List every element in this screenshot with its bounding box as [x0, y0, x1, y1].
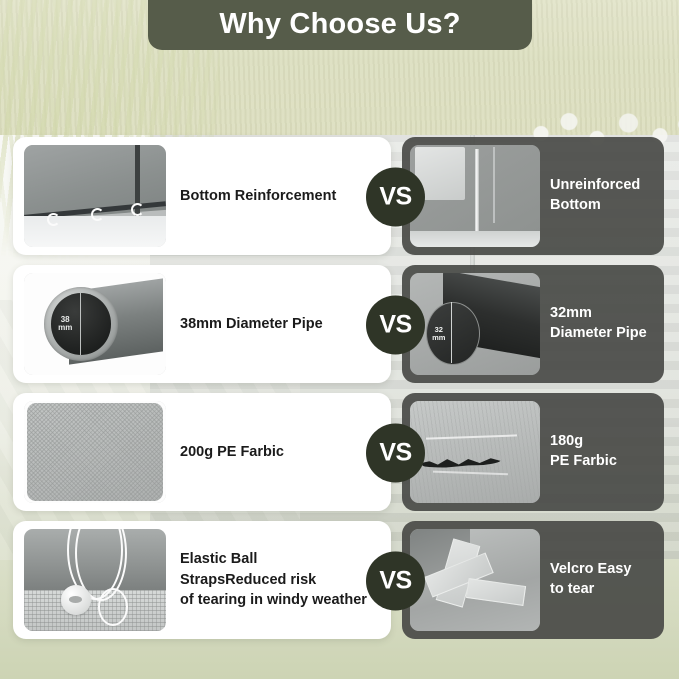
unreinforced-bottom-illustration	[410, 145, 540, 247]
con-label: 180g PE Farbic	[550, 432, 617, 471]
pro-card-elastic-ball-straps: Elastic Ball StrapsReduced risk of teari…	[13, 521, 391, 639]
comparison-row: Elastic Ball StrapsReduced risk of teari…	[0, 521, 679, 641]
comparison-row: Bottom Reinforcement VS Unreinforced	[0, 137, 679, 257]
200g-fabric-illustration	[24, 401, 166, 503]
infographic-page: Why Choose Us? Bottom Reinforcement	[0, 0, 679, 679]
elastic-ball-strap-illustration	[24, 529, 166, 631]
pro-label-line: StrapsReduced risk	[180, 570, 367, 591]
con-label-line: Velcro Easy	[550, 560, 631, 580]
con-thumbnail-180g-fabric	[410, 401, 540, 503]
pro-thumbnail-elastic-ball-straps	[24, 529, 166, 631]
con-label-line: 32mm	[550, 304, 647, 324]
pipe-callout-line: mm	[432, 334, 445, 342]
vs-label: VS	[379, 569, 411, 594]
pro-card-bottom-reinforcement: Bottom Reinforcement	[13, 137, 391, 255]
pipe-callout-line: mm	[58, 324, 72, 332]
vs-badge: VS	[366, 296, 425, 355]
vs-badge: VS	[366, 168, 425, 227]
con-label: Unreinforced Bottom	[550, 176, 640, 215]
pro-label: Bottom Reinforcement	[180, 186, 336, 207]
con-thumbnail-32mm-pipe: 32 mm	[410, 273, 540, 375]
con-label: 32mm Diameter Pipe	[550, 304, 647, 343]
pro-label: Elastic Ball StrapsReduced risk of teari…	[180, 549, 367, 611]
pro-thumbnail-38mm-pipe: 38 mm	[24, 273, 166, 375]
38mm-pipe-illustration: 38 mm	[24, 273, 166, 375]
pro-thumbnail-bottom-reinforcement	[24, 145, 166, 247]
velcro-strips-illustration	[410, 529, 540, 631]
con-thumbnail-velcro	[410, 529, 540, 631]
con-card-velcro: Velcro Easy to tear	[402, 521, 664, 639]
vs-label: VS	[379, 313, 411, 338]
vs-badge: VS	[366, 424, 425, 483]
con-card-32mm-pipe: 32 mm 32mm Diameter Pipe	[402, 265, 664, 383]
con-label-line: PE Farbic	[550, 452, 617, 472]
con-card-180g-fabric: 180g PE Farbic	[402, 393, 664, 511]
con-label: Velcro Easy to tear	[550, 560, 631, 599]
vs-badge: VS	[366, 552, 425, 611]
180g-torn-fabric-illustration	[410, 401, 540, 503]
pipe-callout: 38 mm	[58, 316, 72, 332]
pro-card-38mm-pipe: 38 mm 38mm Diameter Pipe	[13, 265, 391, 383]
32mm-pipe-illustration: 32 mm	[410, 273, 540, 375]
con-label-line: Bottom	[550, 196, 640, 216]
comparison-row: 38 mm 38mm Diameter Pipe VS	[0, 265, 679, 385]
page-title: Why Choose Us?	[219, 8, 460, 41]
con-thumbnail-unreinforced-bottom	[410, 145, 540, 247]
pro-thumbnail-200g-fabric	[24, 401, 166, 503]
con-label-line: Unreinforced	[550, 176, 640, 196]
con-card-unreinforced-bottom: Unreinforced Bottom	[402, 137, 664, 255]
pro-label-line: of tearing in windy weather	[180, 590, 367, 611]
comparison-row: 200g PE Farbic VS 180g PE Farbic	[0, 393, 679, 513]
pipe-callout: 32 mm	[432, 326, 445, 341]
con-label-line: 180g	[550, 432, 617, 452]
pro-label: 200g PE Farbic	[180, 442, 284, 463]
pro-card-200g-fabric: 200g PE Farbic	[13, 393, 391, 511]
comparison-rows: Bottom Reinforcement VS Unreinforced	[0, 137, 679, 641]
vs-label: VS	[379, 185, 411, 210]
con-label-line: Diameter Pipe	[550, 324, 647, 344]
reinforced-bottom-illustration	[24, 145, 166, 247]
pro-label: 38mm Diameter Pipe	[180, 314, 323, 335]
pro-label-line: Elastic Ball	[180, 549, 367, 570]
vs-label: VS	[379, 441, 411, 466]
con-label-line: to tear	[550, 580, 631, 600]
header-banner: Why Choose Us?	[148, 0, 532, 50]
